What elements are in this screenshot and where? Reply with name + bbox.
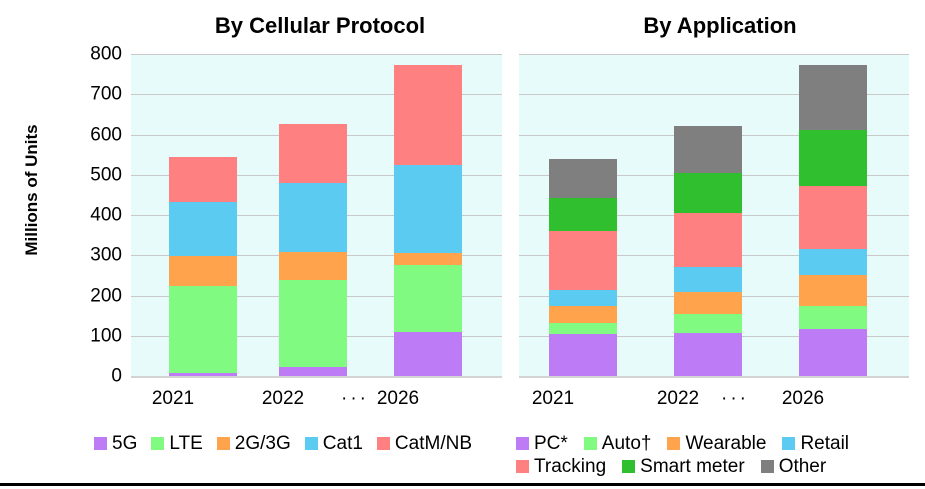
bar-segment-other	[549, 159, 617, 198]
bar-segment-auto-	[799, 306, 867, 329]
bar-segment-tracking	[674, 213, 742, 267]
y-tick-100: 100	[90, 326, 122, 345]
bar-segment-lte	[394, 265, 462, 331]
legend-label-auto-: Auto†	[602, 434, 652, 453]
bar-segment-tracking	[549, 231, 617, 289]
bar-segment-wearable	[674, 292, 742, 314]
plot-area-cellular-protocol	[131, 54, 502, 378]
legend-label-2g-3g: 2G/3G	[235, 434, 291, 453]
legend-swatch-2g-3g	[217, 437, 230, 450]
bar-segment-retail	[549, 290, 617, 306]
bar-segment-catm-nb	[279, 124, 347, 182]
legend-swatch-5g	[94, 437, 107, 450]
legend-swatch-catm-nb	[377, 437, 390, 450]
bar-2022	[674, 126, 742, 376]
y-tick-0: 0	[111, 367, 122, 386]
bar-2022	[279, 124, 347, 376]
y-axis-label: Millions of Units	[22, 80, 42, 300]
bar-2026	[799, 65, 867, 376]
bar-segment-tracking	[799, 186, 867, 249]
legend-swatch-lte	[151, 437, 164, 450]
legend-item-lte[interactable]: LTE	[151, 434, 202, 453]
bar-segment-2g-3g	[279, 252, 347, 280]
legend-swatch-other	[761, 460, 774, 473]
legend-application: PC*Auto†WearableRetailTrackingSmart mete…	[516, 434, 921, 476]
y-tick-500: 500	[90, 165, 122, 184]
bar-segment-pc-	[549, 334, 617, 376]
bar-segment-other	[674, 126, 742, 172]
bar-segment-lte	[169, 286, 237, 373]
legend-label-5g: 5G	[112, 434, 137, 453]
y-tick-800: 800	[90, 45, 122, 64]
chart-title-right: By Application	[520, 13, 920, 39]
chart-title-left: By Cellular Protocol	[130, 13, 510, 39]
legend-label-smart-meter: Smart meter	[640, 457, 745, 476]
legend-item-catm-nb[interactable]: CatM/NB	[377, 434, 472, 453]
legend-item-smart-meter[interactable]: Smart meter	[622, 457, 745, 476]
bar-segment-smart-meter	[549, 198, 617, 231]
legend-label-lte: LTE	[169, 434, 202, 453]
x-tick-left-2022: 2022	[238, 388, 328, 410]
legend-item-retail[interactable]: Retail	[782, 434, 849, 453]
bar-segment-5g	[279, 367, 347, 376]
bar-segment-retail	[799, 249, 867, 275]
legend-swatch-wearable	[667, 437, 680, 450]
legend-swatch-smart-meter	[622, 460, 635, 473]
bar-segment-retail	[674, 267, 742, 292]
gridline-800	[519, 54, 909, 55]
bar-2021	[549, 159, 617, 376]
y-axis-ticks: 8007006005004003002001000	[48, 54, 128, 378]
chart-page: By Cellular Protocol By Application Mill…	[0, 0, 925, 489]
y-tick-300: 300	[90, 246, 122, 265]
bar-segment-5g	[394, 332, 462, 376]
y-tick-200: 200	[90, 286, 122, 305]
legend-swatch-tracking	[516, 460, 529, 473]
bar-segment-other	[799, 65, 867, 129]
legend-swatch-cat1	[305, 437, 318, 450]
x-tick-right-2021: 2021	[508, 388, 598, 410]
bar-segment-lte	[279, 280, 347, 367]
bar-segment-cat1	[279, 183, 347, 253]
bar-segment-2g-3g	[394, 253, 462, 265]
legend-item-5g[interactable]: 5G	[94, 434, 137, 453]
legend-swatch-auto-	[584, 437, 597, 450]
legend-label-retail: Retail	[800, 434, 849, 453]
bar-2021	[169, 157, 237, 376]
x-axis-ellipsis: ···	[330, 388, 380, 410]
legend-label-tracking: Tracking	[534, 457, 606, 476]
legend-label-wearable: Wearable	[685, 434, 766, 453]
bar-segment-auto-	[674, 314, 742, 333]
bar-segment-catm-nb	[169, 157, 237, 201]
x-tick-right-2026: 2026	[758, 388, 848, 410]
legend-label-cat1: Cat1	[323, 434, 363, 453]
gridline-800	[131, 54, 502, 55]
bar-segment-auto-	[549, 323, 617, 334]
legend-item-other[interactable]: Other	[761, 457, 827, 476]
bar-segment-cat1	[169, 202, 237, 256]
legend-item-2g-3g[interactable]: 2G/3G	[217, 434, 291, 453]
legend-item-cat1[interactable]: Cat1	[305, 434, 363, 453]
y-tick-600: 600	[90, 125, 122, 144]
bar-segment-cat1	[394, 165, 462, 254]
bottom-divider	[0, 483, 925, 486]
bar-segment-smart-meter	[674, 173, 742, 213]
bar-segment-smart-meter	[799, 130, 867, 186]
x-tick-left-2021: 2021	[128, 388, 218, 410]
x-axis-line	[519, 376, 909, 378]
x-axis-ellipsis: ···	[710, 388, 760, 410]
bar-segment-2g-3g	[169, 256, 237, 286]
bar-segment-pc-	[674, 333, 742, 376]
legend-item-tracking[interactable]: Tracking	[516, 457, 606, 476]
bar-segment-wearable	[549, 306, 617, 323]
legend-label-other: Other	[779, 457, 827, 476]
bar-segment-wearable	[799, 275, 867, 305]
y-tick-700: 700	[90, 85, 122, 104]
legend-cellular-protocol: 5GLTE2G/3GCat1CatM/NB	[94, 434, 504, 453]
y-tick-400: 400	[90, 206, 122, 225]
legend-label-catm-nb: CatM/NB	[395, 434, 472, 453]
bar-2026	[394, 65, 462, 376]
x-axis-line	[131, 376, 502, 378]
legend-label-pc-: PC*	[534, 434, 568, 453]
bar-segment-pc-	[799, 329, 867, 376]
bar-segment-5g	[169, 373, 237, 376]
legend-swatch-pc-	[516, 437, 529, 450]
bar-segment-catm-nb	[394, 65, 462, 164]
legend-item-pc-[interactable]: PC*	[516, 434, 568, 453]
plot-area-application	[519, 54, 909, 378]
legend-swatch-retail	[782, 437, 795, 450]
legend-item-wearable[interactable]: Wearable	[667, 434, 766, 453]
legend-item-auto-[interactable]: Auto†	[584, 434, 652, 453]
